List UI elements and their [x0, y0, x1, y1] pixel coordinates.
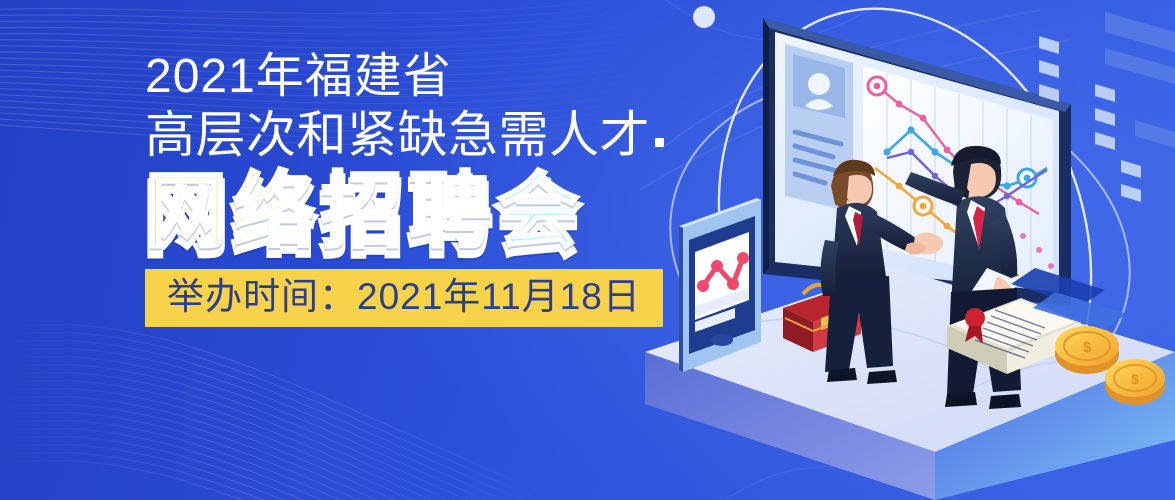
main-title-wrap: 网络招聘会 网络招聘会	[145, 171, 685, 253]
recruitment-banner: $ $ 2021年福建省 高层次和紧缺急需人才 网络招聘会 网络招聘会 举办时间…	[0, 0, 1175, 500]
subtitle-line-2: 高层次和紧缺急需人才	[145, 107, 685, 163]
background-panel-strips	[1105, 12, 1175, 148]
main-title: 网络招聘会	[145, 171, 685, 253]
date-badge: 举办时间：2021年11月18日	[145, 269, 663, 328]
svg-text:$: $	[1083, 339, 1092, 356]
date-badge-label: 举办时间：2021年11月18日	[167, 276, 641, 317]
subtitle-line-1: 2021年福建省	[145, 52, 685, 103]
illustration-group: $ $	[635, 0, 1175, 500]
smartphone	[679, 198, 761, 372]
headline-block: 2021年福建省 高层次和紧缺急需人才 网络招聘会 网络招聘会 举办时间：202…	[145, 52, 685, 327]
svg-text:$: $	[1131, 371, 1139, 387]
